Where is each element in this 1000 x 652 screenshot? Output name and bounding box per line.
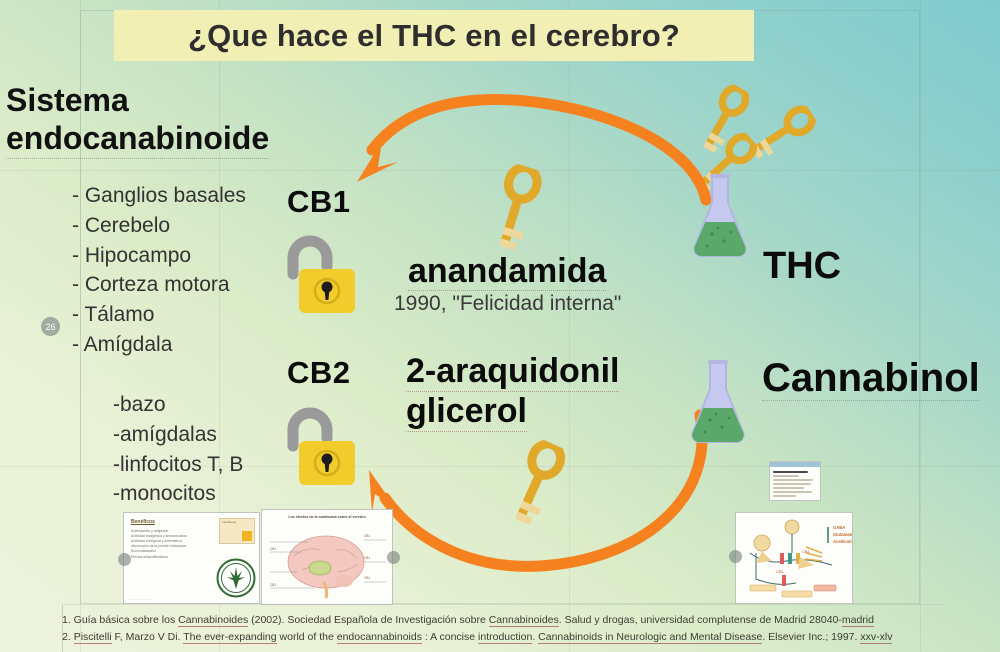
list-item: -linfocitos T, B bbox=[113, 450, 243, 480]
receptor-label-cb2: CB2 bbox=[287, 355, 351, 391]
cannabis-seal-icon bbox=[216, 558, 256, 598]
reference-text: : A concise bbox=[422, 631, 478, 643]
slide-number-badge[interactable]: 26 bbox=[41, 317, 60, 336]
reference-underlined-term: xxv-xlv bbox=[860, 631, 892, 644]
thumbnail-badge[interactable] bbox=[729, 550, 742, 563]
list-item: - Ganglios basales bbox=[72, 181, 246, 211]
brain-diagram-icon: CB1CB1CB1 CB1CB1 bbox=[268, 526, 388, 600]
list-item: - Hipocampo bbox=[72, 241, 246, 271]
list-item: -monocitos bbox=[113, 479, 243, 509]
reference-1: 1. Guía básica sobre los Cannabinoides (… bbox=[62, 612, 976, 629]
thumbnail-title: Los efectos de la marihuana sobre el cer… bbox=[262, 510, 392, 519]
canvas-guide-line bbox=[920, 0, 921, 652]
thumbnail-badge[interactable] bbox=[387, 551, 400, 564]
svg-text:Glutamato: Glutamato bbox=[833, 532, 853, 537]
list-item: - Corteza motora bbox=[72, 270, 246, 300]
thumbnail-inset-caption: marihuana bbox=[220, 519, 254, 525]
svg-text:CB1: CB1 bbox=[802, 549, 811, 554]
araquidonil-line-1: 2-araquidonil bbox=[406, 352, 619, 392]
cannabinol-text: Cannabinol bbox=[762, 356, 980, 401]
reference-text: . Salud y drogas, universidad complutens… bbox=[559, 614, 842, 626]
list-item: -amígdalas bbox=[113, 420, 243, 450]
reference-2: 2. Piscitelli F, Marzo V Di. The ever-ex… bbox=[62, 629, 976, 646]
svg-text:CB1: CB1 bbox=[364, 576, 370, 580]
thumbnail-badge[interactable] bbox=[118, 553, 131, 566]
thumbnail-inset-swatch bbox=[242, 531, 252, 541]
open-padlock-icon bbox=[283, 228, 359, 318]
reference-underlined-term: Cannabinoides bbox=[489, 614, 559, 627]
thumbnail-footnote: ............................ bbox=[129, 597, 151, 601]
svg-text:CB1: CB1 bbox=[270, 583, 276, 587]
section-heading-line-2: endocanabinoide bbox=[6, 120, 269, 159]
reference-underlined-term: madrid bbox=[842, 614, 874, 627]
svg-text:CB1: CB1 bbox=[776, 569, 785, 574]
svg-text:CB1: CB1 bbox=[364, 534, 370, 538]
reference-underlined-term: Cannabinoids in Neurologic and Mental Di… bbox=[538, 631, 762, 644]
flask-icon bbox=[688, 170, 752, 260]
thumbnail-neuro-diagram[interactable]: GABAGlutamatoAcetilcolina CB1 CB1 bbox=[735, 512, 853, 604]
receptor-label-cb1: CB1 bbox=[287, 184, 351, 220]
reference-text: world of the bbox=[277, 631, 337, 643]
svg-text:CB1: CB1 bbox=[270, 547, 276, 551]
araquidonil-line-2: glicerol bbox=[406, 392, 527, 432]
page-title: ¿Que hace el THC en el cerebro? bbox=[188, 18, 680, 54]
thumbnail-inset-chart: marihuana bbox=[219, 518, 255, 544]
svg-text:GABA: GABA bbox=[833, 525, 845, 530]
reference-text: F, Marzo V Di. bbox=[112, 631, 184, 643]
section-heading: Sistema endocanabinoide bbox=[6, 82, 346, 159]
svg-text:CB1: CB1 bbox=[364, 556, 370, 560]
list-item: - Amígdala bbox=[72, 330, 246, 360]
cb1-location-list: - Ganglios basales - Cerebelo - Hipocamp… bbox=[72, 181, 246, 360]
list-item: -bazo bbox=[113, 390, 243, 420]
thumbnail-beneficios-slide[interactable]: Benéficos Estimulación y relajación Acti… bbox=[123, 512, 260, 604]
cannabinol-label: Cannabinol bbox=[762, 356, 980, 401]
thumbnail-document[interactable] bbox=[769, 461, 821, 501]
cb2-location-list: -bazo -amígdalas -linfocitos T, B -monoc… bbox=[113, 390, 243, 509]
thumbnail-doc-body bbox=[770, 467, 820, 501]
reference-underlined-term: Cannabinoides bbox=[178, 614, 248, 627]
open-padlock-icon bbox=[283, 400, 359, 490]
reference-text: 1. Guía básica sobre los bbox=[62, 614, 178, 626]
reference-underlined-term: endocannabinoids bbox=[337, 631, 422, 644]
footer-references: 1. Guía básica sobre los Cannabinoides (… bbox=[62, 612, 976, 646]
section-heading-line-1: Sistema bbox=[6, 82, 346, 120]
endocannabinoid-2ag: 2-araquidonil glicerol bbox=[406, 352, 706, 432]
reference-underlined-term: introduction bbox=[478, 631, 532, 644]
presentation-slide: ¿Que hace el THC en el cerebro? Sistema … bbox=[0, 0, 1000, 652]
reference-underlined-term: Piscitelli bbox=[74, 631, 112, 644]
anandamida-text: anandamida bbox=[408, 252, 606, 291]
slide-title-banner: ¿Que hace el THC en el cerebro? bbox=[114, 10, 754, 61]
reference-text: (2002). Sociedad Española de Investigaci… bbox=[248, 614, 489, 626]
reference-underlined-term: The ever-expanding bbox=[183, 631, 276, 644]
anandamida-subtitle: 1990, "Felicidad interna" bbox=[394, 292, 621, 316]
thumbnail-brain-slide[interactable]: Los efectos de la marihuana sobre el cer… bbox=[261, 509, 393, 605]
endocannabinoid-anandamida: anandamida bbox=[408, 252, 606, 291]
reference-text: . Elsevier Inc.; 1997. bbox=[762, 631, 860, 643]
reference-text: 2. bbox=[62, 631, 74, 643]
svg-text:Acetilcolina: Acetilcolina bbox=[833, 539, 853, 544]
list-item: - Tálamo bbox=[72, 300, 246, 330]
list-item: - Cerebelo bbox=[72, 211, 246, 241]
thc-label: THC bbox=[763, 245, 841, 288]
synapse-diagram-icon: GABAGlutamatoAcetilcolina CB1 CB1 bbox=[736, 513, 853, 604]
